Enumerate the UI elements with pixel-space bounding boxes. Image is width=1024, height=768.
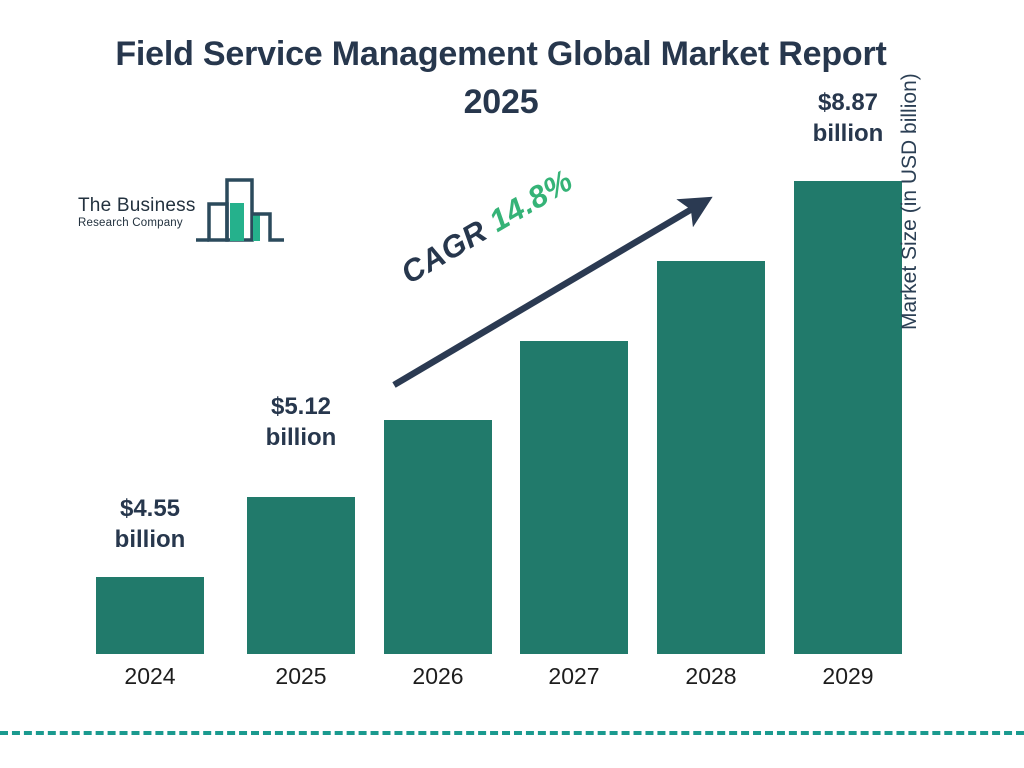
bar-chart-plot-area: $4.55 billion $5.12 billion $8.87 billio… bbox=[0, 0, 1024, 768]
bar-label-2025-amount: $5.12 bbox=[231, 392, 371, 423]
bar-2025[interactable] bbox=[247, 497, 355, 654]
bar-label-2025-unit: billion bbox=[231, 423, 371, 454]
bar-label-2029-amount: $8.87 bbox=[778, 88, 918, 119]
bar-label-2024-unit: billion bbox=[80, 525, 220, 556]
bar-2028[interactable] bbox=[657, 261, 765, 654]
bar-2027[interactable] bbox=[520, 341, 628, 654]
x-tick-2025: 2025 bbox=[231, 663, 371, 690]
bar-2029[interactable] bbox=[794, 181, 902, 654]
bar-label-2024-amount: $4.55 bbox=[80, 494, 220, 525]
bar-label-2025: $5.12 billion bbox=[231, 392, 371, 453]
bar-label-2029-unit: billion bbox=[778, 119, 918, 150]
bar-label-2024: $4.55 billion bbox=[80, 494, 220, 555]
footer-divider bbox=[0, 731, 1024, 735]
x-tick-2028: 2028 bbox=[641, 663, 781, 690]
bar-label-2029: $8.87 billion bbox=[778, 88, 918, 149]
x-tick-2029: 2029 bbox=[778, 663, 918, 690]
y-axis-title: Market Size (in USD billion) bbox=[898, 0, 922, 330]
bar-2026[interactable] bbox=[384, 420, 492, 654]
bar-2024[interactable] bbox=[96, 577, 204, 654]
x-tick-2027: 2027 bbox=[504, 663, 644, 690]
chart-canvas: Field Service Management Global Market R… bbox=[0, 0, 1024, 768]
x-tick-2026: 2026 bbox=[368, 663, 508, 690]
x-tick-2024: 2024 bbox=[80, 663, 220, 690]
